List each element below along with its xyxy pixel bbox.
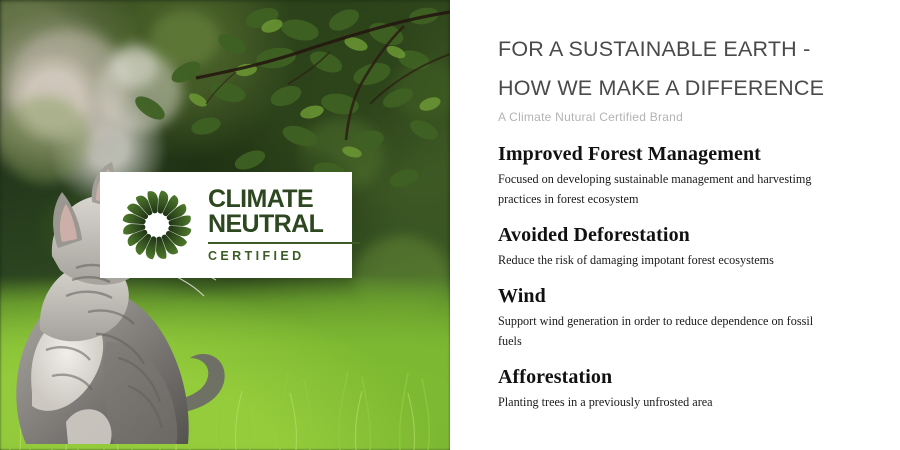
initiatives-list: Improved Forest Management Focused on de… <box>498 143 856 412</box>
list-item: Afforestation Planting trees in a previo… <box>498 366 856 412</box>
badge-wordmark: CLIMATE NEUTRAL CERTIFIED <box>208 187 360 263</box>
initiative-title: Afforestation <box>498 366 856 389</box>
initiative-description: Focused on developing sustainable manage… <box>498 169 828 209</box>
initiative-description: Planting trees in a previously unfrosted… <box>498 392 828 412</box>
badge-certified-label: CERTIFIED <box>208 249 360 263</box>
badge-divider <box>208 242 360 244</box>
list-item: Improved Forest Management Focused on de… <box>498 143 856 209</box>
initiative-description: Support wind generation in order to redu… <box>498 311 828 351</box>
initiative-title: Avoided Deforestation <box>498 224 856 247</box>
initiative-title: Wind <box>498 285 856 308</box>
list-item: Avoided Deforestation Reduce the risk of… <box>498 224 856 270</box>
radial-leaf-ring-icon <box>114 182 200 268</box>
badge-line-neutral: NEUTRAL <box>208 212 360 237</box>
headline-line-1: FOR A SUSTAINABLE EARTH - <box>498 30 856 69</box>
subheadline: A Climate Nutural Certified Brand <box>498 110 856 124</box>
promo-banner: CLIMATE NEUTRAL CERTIFIED FOR A SUSTAINA… <box>0 0 900 450</box>
content-panel: FOR A SUSTAINABLE EARTH - HOW WE MAKE A … <box>450 0 900 450</box>
headline-line-2: HOW WE MAKE A DIFFERENCE <box>498 69 856 108</box>
list-item: Wind Support wind generation in order to… <box>498 285 856 351</box>
nature-photo: CLIMATE NEUTRAL CERTIFIED <box>0 0 450 450</box>
initiative-title: Improved Forest Management <box>498 143 856 166</box>
climate-neutral-badge: CLIMATE NEUTRAL CERTIFIED <box>100 172 352 278</box>
badge-line-climate: CLIMATE <box>208 187 360 212</box>
initiative-description: Reduce the risk of damaging impotant for… <box>498 250 828 270</box>
